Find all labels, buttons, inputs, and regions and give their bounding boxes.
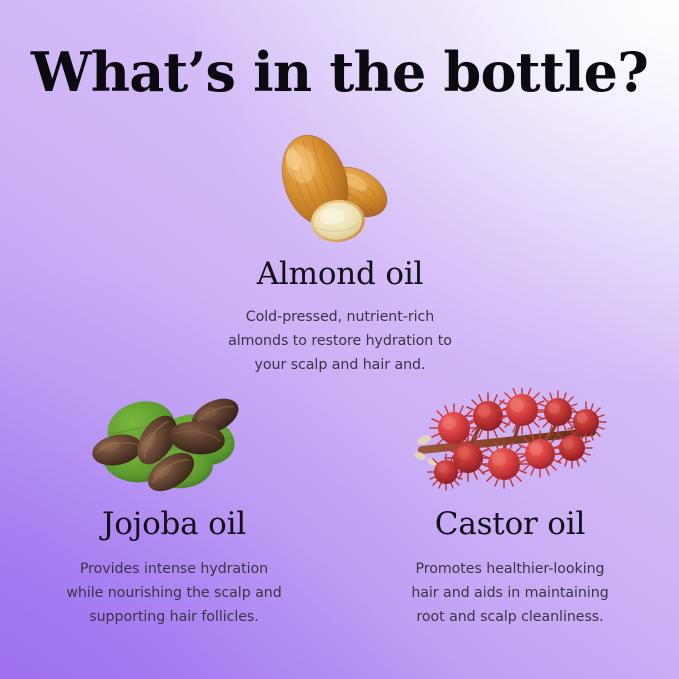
ingredient-heading-almond: Almond oil bbox=[200, 258, 480, 291]
jojoba-seeds-illustration bbox=[16, 388, 332, 498]
castor-seed-pods-illustration bbox=[355, 388, 665, 498]
ingredient-description-castor: Promotes healthier-looking hair and aids… bbox=[355, 557, 665, 629]
ingredient-description-almond: Cold-pressed, nutrient-rich almonds to r… bbox=[200, 305, 480, 377]
ingredient-card-jojoba: Jojoba oil Provides intense hydration wh… bbox=[16, 388, 332, 629]
poster-canvas: What’s in the bottle? bbox=[0, 0, 679, 679]
ingredient-card-almond: Almond oil Cold-pressed, nutrient-rich a… bbox=[200, 128, 480, 377]
page-title: What’s in the bottle? bbox=[0, 40, 679, 104]
ingredient-heading-castor: Castor oil bbox=[355, 508, 665, 541]
ingredient-heading-jojoba: Jojoba oil bbox=[16, 508, 332, 541]
almonds-illustration bbox=[200, 128, 480, 246]
ingredient-description-jojoba: Provides intense hydration while nourish… bbox=[16, 557, 332, 629]
ingredient-card-castor: Castor oil Promotes healthier-looking ha… bbox=[355, 388, 665, 629]
